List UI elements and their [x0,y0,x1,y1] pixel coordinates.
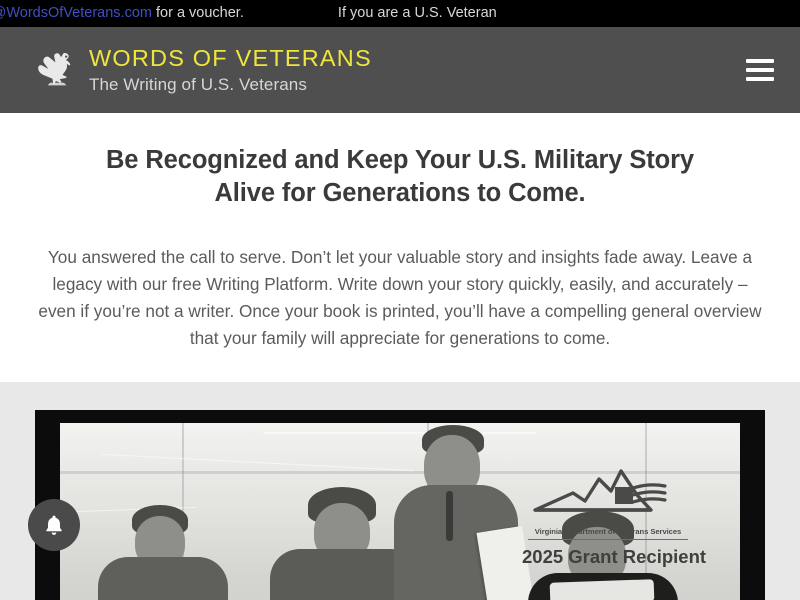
grant-recipient-badge: Virginia Department of Veterans Services… [522,469,694,568]
menu-bar-2 [746,68,774,72]
photo-figure-standing-soldier [390,425,522,600]
brand-logo-link[interactable]: WORDS OF VETERANS The Writing of U.S. Ve… [36,47,372,93]
ticker-message-next: If you are a U.S. Veteran [338,5,497,21]
heading-line-2: Alive for Generations to Come. [20,177,780,210]
hero-photo: Virginia Department of Veterans Services… [35,410,765,600]
ticker-track: eran living in Virginia email Alex@Words… [0,0,497,27]
photo-section: Virginia Department of Veterans Services… [0,382,800,600]
bell-icon [42,513,66,537]
menu-bar-1 [746,59,774,63]
photo-figure-soldier [98,505,228,600]
menu-bar-3 [746,77,774,81]
hero-description: You answered the call to serve. Don’t le… [35,244,765,353]
badge-organization: Virginia Department of Veterans Services [528,527,688,540]
brand-title: WORDS OF VETERANS [89,47,372,71]
photo-canvas: Virginia Department of Veterans Services… [60,423,740,600]
ticker-message: eran living in Virginia email Alex@Words… [0,5,244,21]
mountain-flag-icon [533,469,683,525]
heading-line-1: Be Recognized and Keep Your U.S. Militar… [20,144,780,177]
hamburger-menu-icon[interactable] [742,53,778,87]
brand-tagline: The Writing of U.S. Veterans [89,76,372,93]
site-header: WORDS OF VETERANS The Writing of U.S. Ve… [0,27,800,113]
photo-scratch [101,454,413,471]
eagle-icon [36,48,78,92]
ticker-email-link[interactable]: Alex@WordsOfVeterans.com [0,5,152,21]
figure-sailor-collar [550,580,655,600]
badge-title: 2025 Grant Recipient [522,546,694,568]
announcement-ticker[interactable]: eran living in Virginia email Alex@Words… [0,0,800,27]
notification-button[interactable] [28,499,80,551]
hero-section: Be Recognized and Keep Your U.S. Militar… [0,113,800,382]
ticker-text-after: for a voucher. [152,5,244,21]
figure-necktie [446,491,453,541]
figure-body [98,557,228,600]
page-title: Be Recognized and Keep Your U.S. Militar… [20,144,780,210]
